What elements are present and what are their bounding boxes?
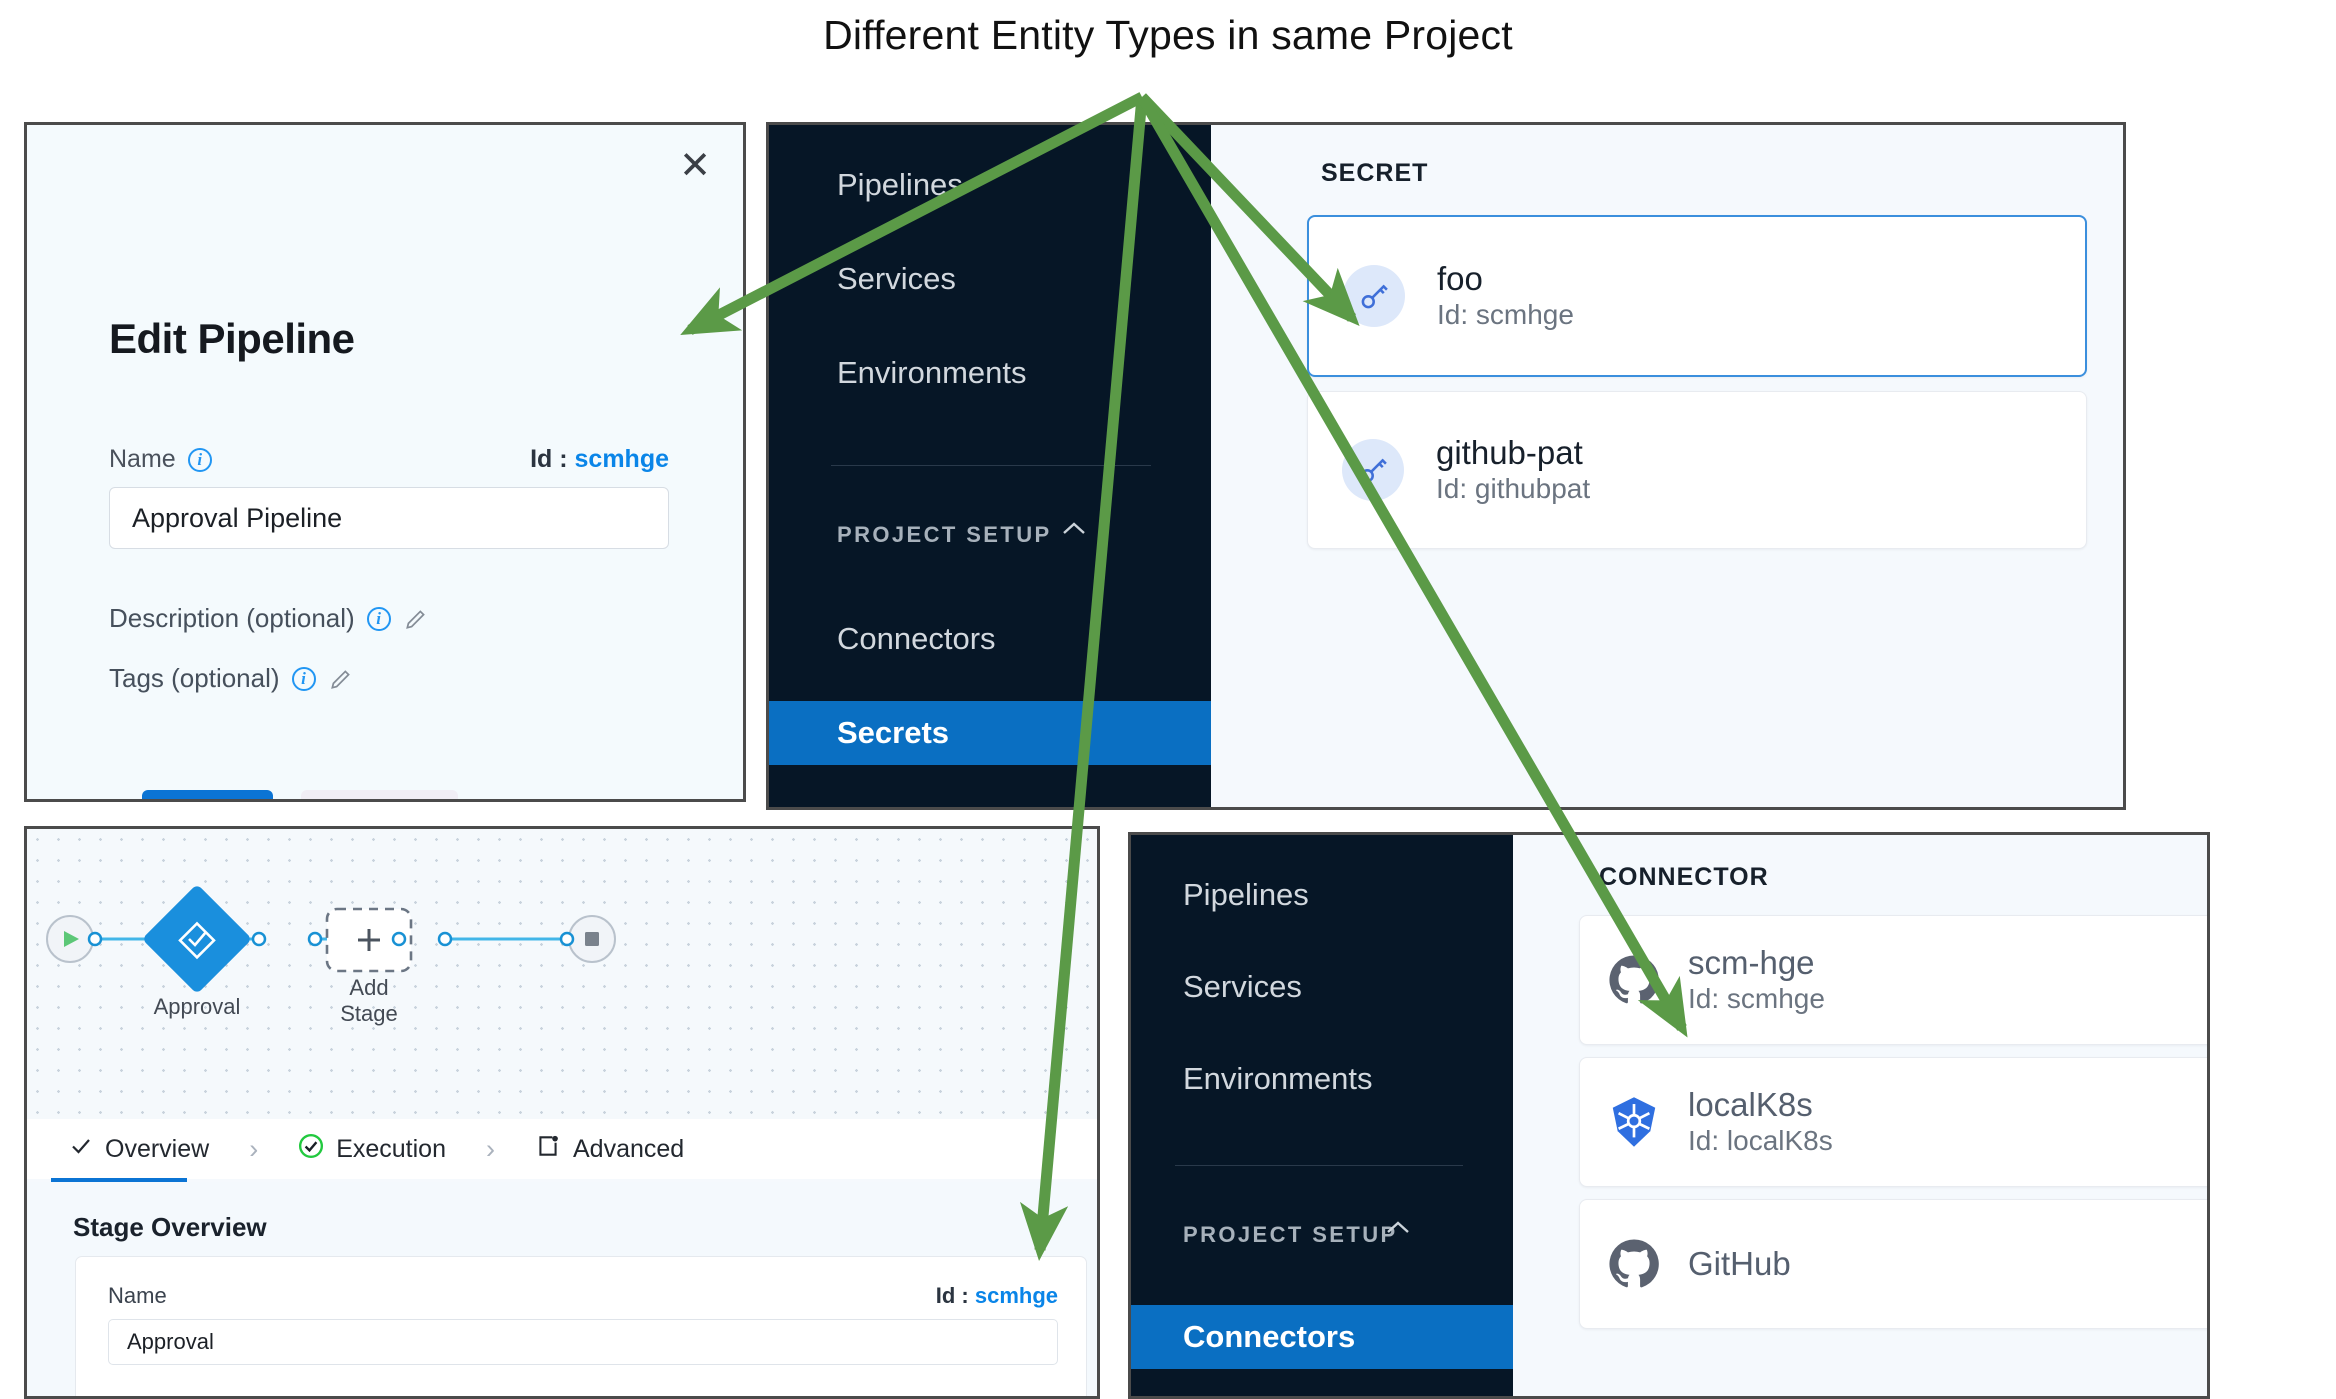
connector-sidebar: Pipelines Services Environments PROJECT … [1131,835,1513,1396]
stage-overview-card: Name Id : scmhge Approval [75,1256,1087,1399]
secret-name: foo [1437,261,1574,298]
sidebar-item-label: Pipelines [837,167,963,203]
sidebar-item-label: Environments [837,355,1027,391]
info-icon[interactable]: i [367,607,391,631]
dialog-title: Edit Pipeline [109,315,355,363]
sidebar-item-label: Connectors [1183,1319,1355,1355]
dialog-button-row: Save Cancel [142,790,458,802]
pipeline-name-input[interactable]: Approval Pipeline [109,487,669,549]
chevron-up-icon[interactable] [1059,515,1089,546]
pipeline-canvas[interactable]: Approval Add Stage [27,829,1097,1119]
sidebar-item-environments[interactable]: Environments [1131,1047,1513,1111]
id-prefix: Id : [530,445,574,473]
check-circle-icon [298,1133,324,1166]
cancel-button[interactable]: Cancel [301,790,458,802]
tab-label: Advanced [573,1135,684,1164]
secret-list-area: SECRET foo Id: scmhge [1211,125,2123,807]
secrets-sidebar: Pipelines Services Environments PROJECT … [769,125,1211,807]
sidebar-divider [1175,1165,1463,1166]
info-icon[interactable]: i [188,448,212,472]
kubernetes-icon [1606,1094,1662,1150]
stage-name-label: Name [108,1283,167,1309]
key-icon [1343,265,1405,327]
description-field-row: Description (optional) i [109,603,429,634]
edit-pencil-icon[interactable] [328,666,354,692]
sidebar-item-services[interactable]: Services [1131,955,1513,1019]
tab-separator-icon: › [215,1134,292,1165]
description-label: Description (optional) [109,603,355,634]
connector-card-scm-hge[interactable]: scm-hge Id: scmhge [1579,915,2210,1045]
secret-id: Id: githubpat [1436,472,1590,505]
sidebar-item-connectors[interactable]: Connectors [1131,1305,1513,1369]
sidebar-section-project-setup[interactable]: PROJECT SETUP [769,511,1211,559]
secret-list-header: SECRET [1321,159,1428,188]
secret-card-github-pat[interactable]: github-pat Id: githubpat [1307,391,2087,549]
tab-overview[interactable]: Overview [63,1134,215,1165]
card-text: github-pat Id: githubpat [1436,435,1590,505]
card-text: foo Id: scmhge [1437,261,1574,331]
sidebar-section-label: PROJECT SETUP [1183,1222,1398,1248]
sidebar-item-label: Services [837,261,956,297]
secrets-window: Pipelines Services Environments PROJECT … [766,122,2126,810]
screenshot-root: Different Entity Types in same Project ✕… [0,0,2336,1399]
sidebar-item-label: Services [1183,969,1302,1005]
pipeline-name-value: Approval Pipeline [132,503,342,534]
tab-separator-icon: › [452,1134,529,1165]
tab-advanced[interactable]: Advanced [529,1133,690,1166]
card-text: GitHub [1688,1246,1791,1283]
sidebar-item-services[interactable]: Services [769,247,1211,311]
connector-name: scm-hge [1688,945,1825,982]
stage-tabs-bar: Overview › Execution › Advanced [27,1119,1097,1179]
sidebar-item-label: Connectors [837,621,996,657]
card-text: scm-hge Id: scmhge [1688,945,1825,1015]
advanced-gear-box-icon [535,1133,561,1166]
tab-label: Overview [105,1135,209,1164]
tags-label: Tags (optional) [109,663,280,694]
add-stage-label[interactable]: Add Stage [319,975,419,1027]
check-icon [69,1134,93,1165]
card-icon [1342,439,1404,501]
sidebar-item-pipelines[interactable]: Pipelines [769,153,1211,217]
stage-overview-title: Stage Overview [73,1212,267,1243]
pipeline-id: Id : scmhge [530,445,669,474]
name-label-row: Name i Id : scmhge [109,445,669,474]
sidebar-item-label: Environments [1183,1061,1373,1097]
id-value[interactable]: scmhge [975,1283,1058,1308]
connector-window: Pipelines Services Environments PROJECT … [1128,832,2210,1399]
connector-list-area: CONNECTOR scm-hge Id: scmhge [1513,835,2207,1396]
sidebar-divider [831,465,1151,466]
tags-field-row: Tags (optional) i [109,663,354,694]
connector-list-header: CONNECTOR [1599,863,1769,892]
connector-name: localK8s [1688,1087,1833,1124]
connector-id: Id: localK8s [1688,1124,1833,1157]
key-icon [1342,439,1404,501]
secret-id: Id: scmhge [1437,298,1574,331]
chevron-up-icon[interactable] [1383,1214,1413,1245]
secret-name: github-pat [1436,435,1590,472]
info-icon[interactable]: i [292,667,316,691]
page-title: Different Entity Types in same Project [0,12,2336,59]
sidebar-section-project-setup[interactable]: PROJECT SETUP [1131,1211,1513,1259]
sidebar-item-pipelines[interactable]: Pipelines [1131,863,1513,927]
edit-pencil-icon[interactable] [403,606,429,632]
sidebar-item-label: Pipelines [1183,877,1309,913]
card-text: localK8s Id: localK8s [1688,1087,1833,1157]
connector-name: GitHub [1688,1246,1791,1283]
stage-id: Id : scmhge [936,1283,1058,1309]
sidebar-item-environments[interactable]: Environments [769,341,1211,405]
stage-name-input[interactable]: Approval [108,1319,1058,1365]
close-icon[interactable]: ✕ [679,147,711,185]
connector-card-localk8s[interactable]: localK8s Id: localK8s [1579,1057,2210,1187]
sidebar-item-connectors[interactable]: Connectors [769,607,1211,671]
stage-node-label: Approval [145,994,249,1020]
save-button[interactable]: Save [142,790,273,802]
name-label: Name [109,445,176,474]
github-icon [1606,1236,1662,1292]
pipeline-graph [27,829,1100,1119]
stage-overview-body: Stage Overview Name Id : scmhge Approval [27,1182,1097,1396]
stage-name-label-row: Name Id : scmhge [108,1283,1058,1309]
tab-execution[interactable]: Execution [292,1133,452,1166]
tab-label: Execution [336,1135,446,1164]
github-icon [1606,952,1662,1008]
sidebar-section-label: PROJECT SETUP [837,522,1052,548]
sidebar-item-label: Secrets [837,715,949,751]
sidebar-item-secrets[interactable]: Secrets [769,701,1211,765]
id-value[interactable]: scmhge [575,445,669,473]
id-prefix: Id : [936,1283,975,1308]
connector-id: Id: scmhge [1688,982,1825,1015]
secret-card-foo[interactable]: foo Id: scmhge [1307,215,2087,377]
stage-name-value: Approval [127,1329,214,1355]
card-icon [1343,265,1405,327]
pipeline-studio-panel: Approval Add Stage Overview › Execution … [24,826,1100,1399]
edit-pipeline-dialog: ✕ Edit Pipeline Name i Id : scmhge Appro… [24,122,746,802]
connector-card-github[interactable]: GitHub [1579,1199,2210,1329]
